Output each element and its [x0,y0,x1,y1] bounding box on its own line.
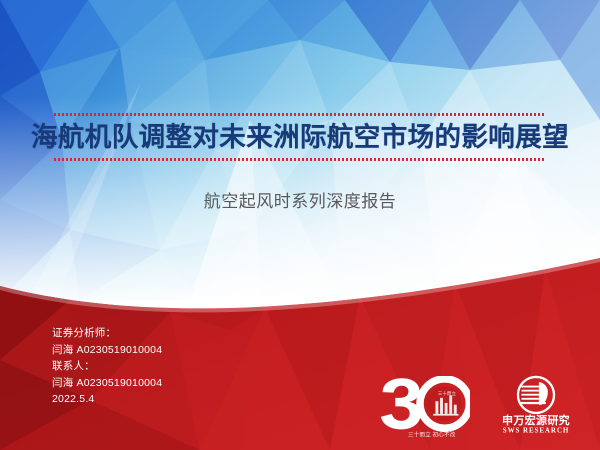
svg-text:三十而立: 三十而立 [438,390,457,397]
contact-label: 联系人： [52,358,162,375]
report-date: 2022.5.4 [52,391,162,408]
analyst-name-and-code: 闫海 A0230519010004 [52,342,162,359]
anniversary-30-logo: 三十而立 三十而立 初心不改 [378,376,470,438]
title-block: 海航机队调整对未来洲际航空市场的影响展望 [0,113,600,161]
page-title: 海航机队调整对未来洲际航空市场的影响展望 [0,116,600,158]
title-rule-bottom [54,158,546,161]
analyst-info-block: 证券分析师： 闫海 A0230519010004 联系人： 闫海 A023051… [52,325,162,408]
analyst-label: 证券分析师： [52,325,162,342]
report-cover-slide: 海航机队调整对未来洲际航空市场的影响展望 航空起风时系列深度报告 证券分析师： … [0,0,600,450]
sws-research-logo: 申万宏源研究 SWS RESEARCH [486,374,586,438]
svg-text:SWS RESEARCH: SWS RESEARCH [503,427,569,435]
contact-name-and-code: 闫海 A0230519010004 [52,375,162,392]
page-subtitle: 航空起风时系列深度报告 [0,190,600,214]
logo-row: 三十而立 三十而立 初心不改 申万宏源研究 SWS RESEARCH [378,374,586,438]
svg-text:申万宏源研究: 申万宏源研究 [502,413,570,427]
